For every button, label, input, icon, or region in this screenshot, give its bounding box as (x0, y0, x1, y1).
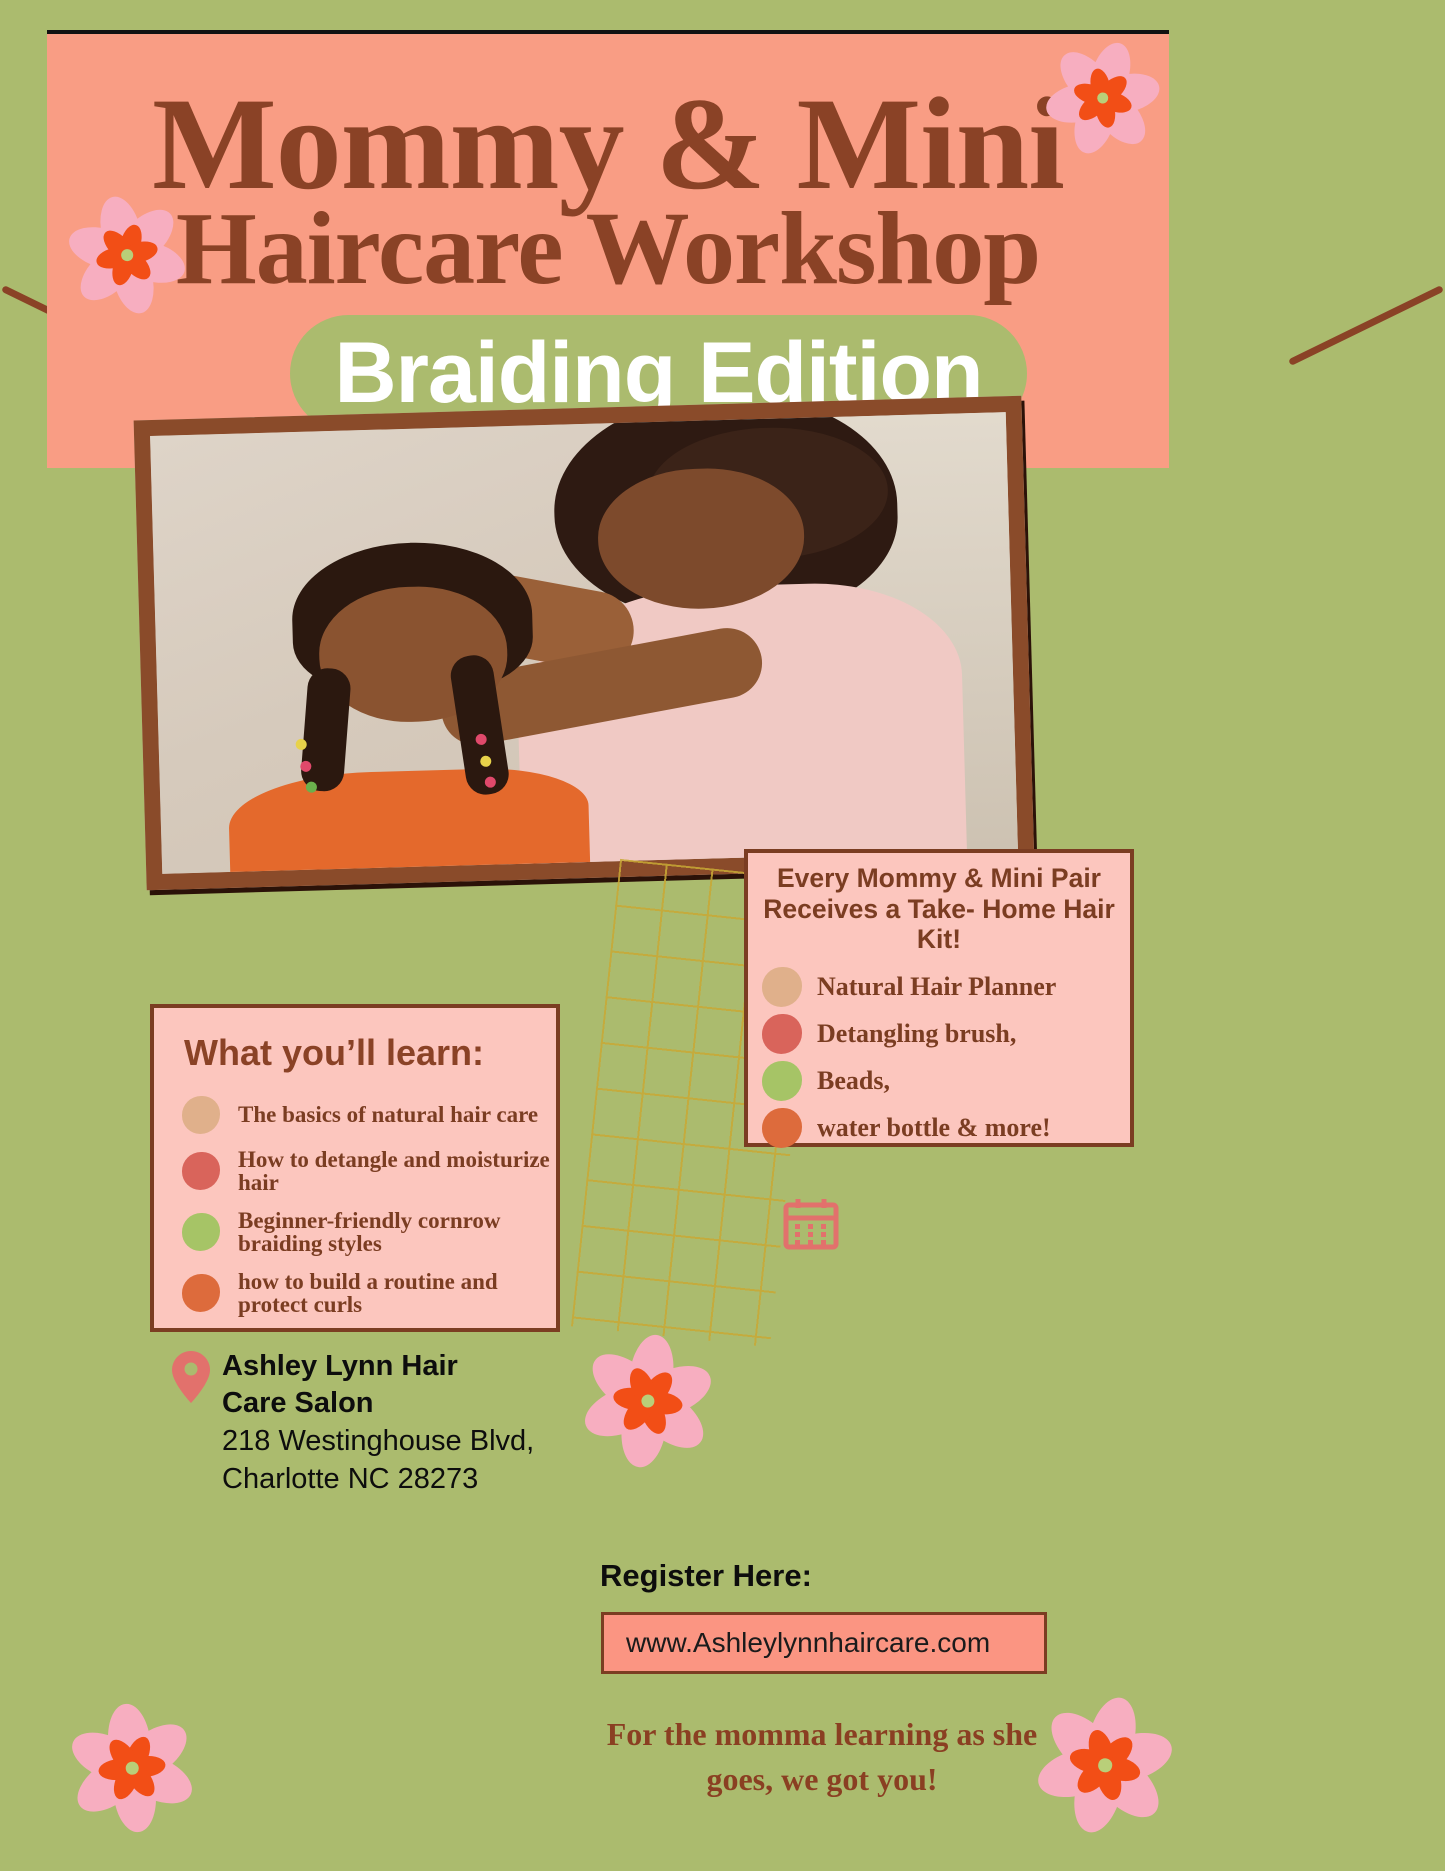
hair-bead (296, 738, 307, 749)
page-title-line2: Haircare Workshop (47, 200, 1169, 298)
flower-icon (1014, 1674, 1196, 1856)
learn-item-label: how to build a routine and protect curls (238, 1270, 556, 1317)
bullet-dot (762, 1061, 802, 1101)
daughter-braid-left (299, 666, 351, 792)
register-url-text: www.Ashleylynnhaircare.com (626, 1627, 990, 1659)
kit-item-label: water bottle & more! (817, 1115, 1051, 1142)
hair-bead (480, 755, 491, 766)
flyer-canvas: Mommy & Mini Haircare Workshop Braiding … (0, 0, 1445, 1871)
tagline: For the momma learning as she goes, we g… (582, 1712, 1062, 1803)
hair-bead (475, 733, 486, 744)
calendar-icon (783, 1198, 839, 1250)
register-label: Register Here: (600, 1558, 812, 1594)
tagline-line1: For the momma learning as she (607, 1716, 1037, 1752)
list-item: The basics of natural hair care (182, 1096, 556, 1134)
list-item: Natural Hair Planner (762, 967, 1124, 1007)
kit-item-label: Detangling brush, (817, 1021, 1016, 1048)
list-item: water bottle & more! (762, 1108, 1124, 1148)
page-title-line1: Mommy & Mini (47, 82, 1169, 206)
learn-item-label: How to detangle and moisturize hair (238, 1148, 556, 1195)
bullet-dot (762, 1014, 802, 1054)
list-item: Beginner-friendly cornrow braiding style… (182, 1209, 556, 1256)
venue-name-line2: Care Salon (222, 1385, 582, 1422)
flower-icon (566, 1319, 730, 1483)
kit-item-label: Beads, (817, 1068, 890, 1095)
register-url-button[interactable]: www.Ashleylynnhaircare.com (601, 1612, 1047, 1674)
list-item: How to detangle and moisturize hair (182, 1148, 556, 1195)
bullet-dot (182, 1274, 220, 1312)
decorative-diagonal-right (1288, 285, 1444, 366)
kit-item-label: Natural Hair Planner (817, 974, 1056, 1001)
learn-item-list: The basics of natural hair care How to d… (154, 1074, 556, 1317)
venue-address: Ashley Lynn Hair Care Salon 218 Westingh… (222, 1348, 582, 1499)
what-youll-learn-card: What you’ll learn: The basics of natural… (150, 1004, 560, 1332)
venue-street: 218 Westinghouse Blvd, (222, 1422, 582, 1461)
tagline-line2: goes, we got you! (706, 1761, 937, 1797)
flower-center (125, 1761, 139, 1775)
bullet-dot (182, 1152, 220, 1190)
flower-icon (55, 1691, 209, 1845)
bullet-dot (182, 1213, 220, 1251)
kit-item-list: Natural Hair Planner Detangling brush, B… (748, 955, 1130, 1148)
bullet-dot (762, 967, 802, 1007)
learn-item-label: The basics of natural hair care (238, 1103, 538, 1126)
learn-item-label: Beginner-friendly cornrow braiding style… (238, 1209, 556, 1256)
bullet-dot (762, 1108, 802, 1148)
venue-city-state-zip: Charlotte NC 28273 (222, 1460, 582, 1499)
workshop-photo (134, 396, 1035, 891)
learn-heading: What you’ll learn: (154, 1008, 556, 1074)
bullet-dot (182, 1096, 220, 1134)
list-item: Detangling brush, (762, 1014, 1124, 1054)
kit-heading: Every Mommy & Mini Pair Receives a Take-… (748, 853, 1130, 955)
location-pin-icon (172, 1351, 210, 1403)
take-home-kit-card: Every Mommy & Mini Pair Receives a Take-… (744, 849, 1134, 1147)
list-item: Beads, (762, 1061, 1124, 1101)
list-item: how to build a routine and protect curls (182, 1270, 556, 1317)
hair-bead (300, 760, 311, 771)
venue-name-line1: Ashley Lynn Hair (222, 1348, 582, 1385)
